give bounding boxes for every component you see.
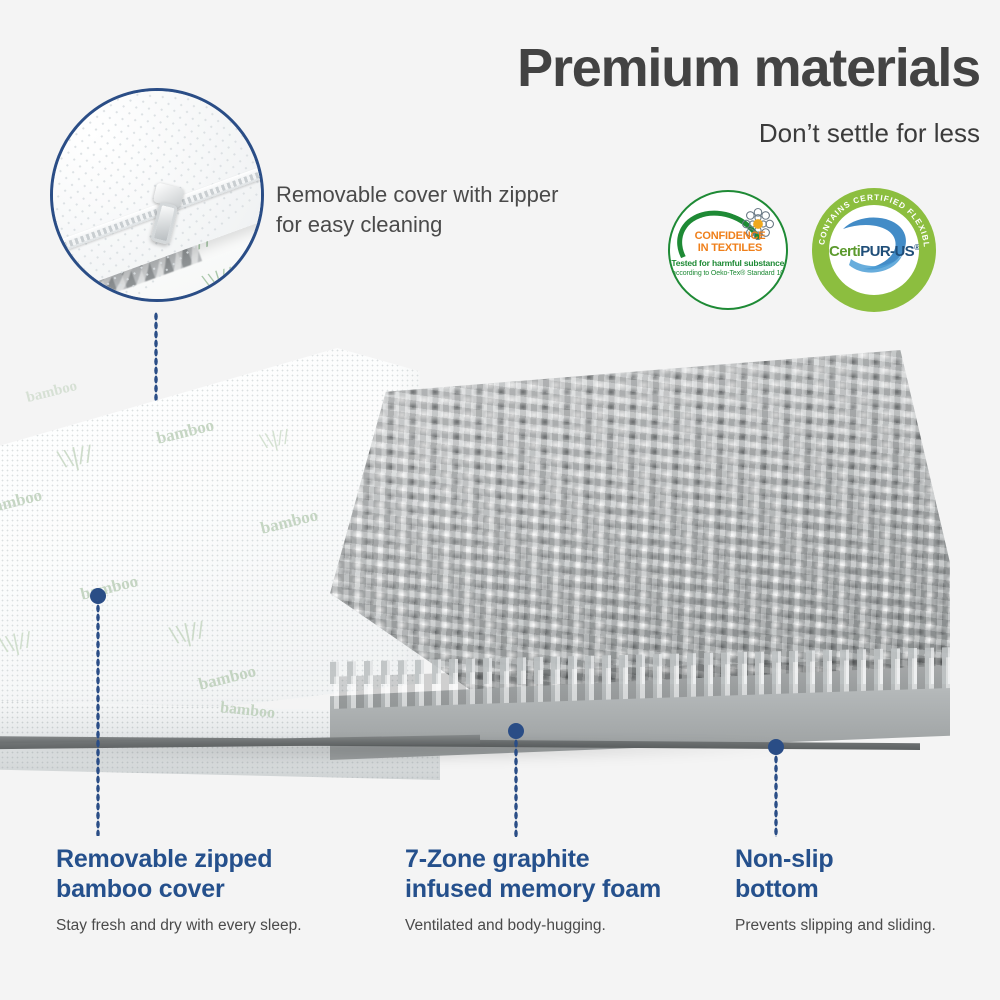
callout-leader-foam xyxy=(514,739,518,837)
feature-title-cover: Removable zipped bamboo cover xyxy=(56,845,386,904)
feature-title-foam: 7-Zone graphite infused memory foam xyxy=(405,845,725,904)
oeko-tex-badge: CONFIDENCE IN TEXTILES Tested for harmfu… xyxy=(668,190,788,310)
feature-title-cover-line2: bamboo cover xyxy=(56,875,224,903)
bamboo-print-word: bamboo xyxy=(25,378,79,407)
feature-desc-cover: Stay fresh and dry with every sleep. xyxy=(56,916,386,936)
feature-block-nonslip: Non-slip bottom Prevents slipping and sl… xyxy=(735,845,990,936)
feature-title-cover-line1: Removable zipped xyxy=(56,845,272,873)
zipper-callout-text: Removable cover with zipper for easy cle… xyxy=(276,180,606,239)
oeko-headline-line2: IN TEXTILES xyxy=(670,242,788,254)
zipper-callout-line1: Removable cover with zipper xyxy=(276,180,606,210)
feature-title-nonslip-line2: bottom xyxy=(735,875,819,903)
callout-dot-cover xyxy=(90,588,106,604)
certification-badges: CONFIDENCE IN TEXTILES Tested for harmfu… xyxy=(668,190,968,310)
convoluted-foam-block xyxy=(330,350,950,760)
certipur-inner-disc: CertiPUR-US® xyxy=(829,205,919,295)
callout-leader-nonslip xyxy=(774,755,778,837)
zipper-pull-icon xyxy=(153,190,178,231)
oeko-headline: CONFIDENCE IN TEXTILES xyxy=(670,230,788,255)
certipur-us-badge: CONTAINS CERTIFIED FLEXIBLE POLYURETHANE… xyxy=(812,188,936,312)
callout-leader-cover xyxy=(96,604,100,836)
callout-dot-foam xyxy=(508,723,524,739)
oeko-standard-line: according to Oeko-Tex® Standard 100 xyxy=(670,270,788,277)
feature-desc-foam: Ventilated and body-hugging. xyxy=(405,916,725,936)
feature-title-foam-line1: 7-Zone graphite xyxy=(405,845,590,873)
zipper-detail-inner: \\\|/ \\\|// \\|// xyxy=(53,91,261,299)
feature-desc-nonslip: Prevents slipping and sliding. xyxy=(735,916,990,936)
mattress-illustration: bamboo bamboo bamboo bamboo bamboo bambo… xyxy=(0,330,1000,770)
certipur-registered-mark: ® xyxy=(914,243,919,252)
infographic-canvas: Premium materials Don’t settle for less … xyxy=(0,0,1000,1000)
oeko-subline: Tested for harmful substances xyxy=(670,258,788,268)
zipper-callout-line2: for easy cleaning xyxy=(276,210,606,240)
zipper-detail-photo: \\\|/ \\\|// \\|// xyxy=(50,88,264,302)
certipur-wordmark: CertiPUR-US® xyxy=(829,243,919,260)
feature-block-cover: Removable zipped bamboo cover Stay fresh… xyxy=(56,845,386,936)
feature-title-foam-line2: infused memory foam xyxy=(405,875,661,903)
page-subtitle: Don’t settle for less xyxy=(400,118,980,149)
page-title: Premium materials xyxy=(400,40,980,97)
callout-dot-nonslip xyxy=(768,739,784,755)
oeko-headline-line1: CONFIDENCE xyxy=(670,230,788,242)
certipur-word-blue: PUR-US xyxy=(860,243,914,260)
feature-title-nonslip: Non-slip bottom xyxy=(735,845,990,904)
feature-title-nonslip-line1: Non-slip xyxy=(735,845,833,873)
feature-block-foam: 7-Zone graphite infused memory foam Vent… xyxy=(405,845,725,936)
certipur-word-green: Certi xyxy=(829,243,860,260)
